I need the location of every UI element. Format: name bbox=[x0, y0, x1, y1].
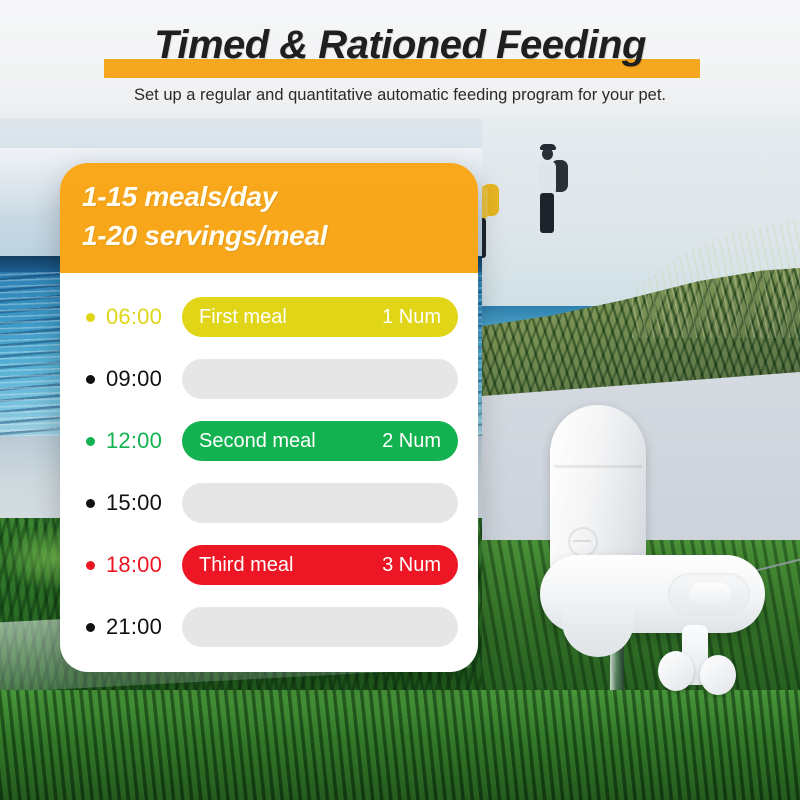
page-subtitle: Set up a regular and quantitative automa… bbox=[0, 86, 800, 105]
header: Timed & Rationed Feeding Set up a regula… bbox=[0, 0, 800, 118]
card-header: 1-15 meals/day 1-20 servings/meal bbox=[60, 163, 478, 273]
feeder-outlet bbox=[562, 601, 634, 657]
meal-label: Second meal bbox=[199, 430, 316, 453]
feeder-clamp bbox=[658, 625, 734, 697]
hiker-legs bbox=[482, 218, 486, 258]
feeding-schedule-card: 1-15 meals/day 1-20 servings/meal 06:00F… bbox=[60, 163, 478, 672]
meal-pill[interactable]: Second meal2 Num bbox=[182, 421, 458, 461]
time-bullet-icon bbox=[86, 375, 95, 384]
schedule-time: 18:00 bbox=[106, 552, 182, 578]
meals-per-day-label: 1-15 meals/day bbox=[82, 177, 478, 216]
hiker-torso bbox=[538, 161, 556, 195]
hiker-torso bbox=[482, 186, 488, 220]
clamp-knob bbox=[658, 651, 694, 691]
automatic-fish-feeder bbox=[540, 405, 780, 695]
empty-slot-pill[interactable] bbox=[182, 359, 458, 399]
schedule-row[interactable]: 18:00Third meal3 Num bbox=[60, 543, 478, 587]
hiker-legs bbox=[540, 193, 554, 233]
product-infographic: Timed & Rationed Feeding Set up a regula… bbox=[0, 0, 800, 800]
schedule-row[interactable]: 06:00First meal1 Num bbox=[60, 295, 478, 339]
title-wrap: Timed & Rationed Feeding bbox=[0, 0, 800, 68]
empty-slot-pill[interactable] bbox=[182, 607, 458, 647]
feeder-button bbox=[688, 581, 732, 605]
hiker-figure bbox=[534, 144, 574, 240]
meal-pill[interactable]: First meal1 Num bbox=[182, 297, 458, 337]
meal-label: First meal bbox=[199, 306, 287, 329]
schedule-time: 06:00 bbox=[106, 304, 182, 330]
meal-pill[interactable]: Third meal3 Num bbox=[182, 545, 458, 585]
schedule-row[interactable]: 09:00 bbox=[60, 357, 478, 401]
serving-count: 2 Num bbox=[382, 430, 441, 453]
foreground-plants bbox=[0, 690, 800, 800]
schedule-row[interactable]: 12:00Second meal2 Num bbox=[60, 419, 478, 463]
empty-slot-pill[interactable] bbox=[182, 483, 458, 523]
serving-count: 1 Num bbox=[382, 306, 441, 329]
time-bullet-icon bbox=[86, 313, 95, 322]
schedule-time: 09:00 bbox=[106, 366, 182, 392]
meal-label: Third meal bbox=[199, 554, 293, 577]
time-bullet-icon bbox=[86, 499, 95, 508]
hiker-figure bbox=[482, 174, 508, 264]
schedule-time: 21:00 bbox=[106, 614, 182, 640]
time-bullet-icon bbox=[86, 623, 95, 632]
schedule-row[interactable]: 21:00 bbox=[60, 605, 478, 649]
hiker-head bbox=[542, 148, 553, 160]
page-title: Timed & Rationed Feeding bbox=[0, 22, 800, 68]
dune-hikers-photo bbox=[482, 118, 800, 400]
feeder-hopper bbox=[550, 405, 646, 575]
schedule-row[interactable]: 15:00 bbox=[60, 481, 478, 525]
servings-per-meal-label: 1-20 servings/meal bbox=[82, 216, 478, 255]
schedule-list: 06:00First meal1 Num09:0012:00Second mea… bbox=[60, 273, 478, 649]
rotate-lock-icon bbox=[568, 527, 598, 557]
clamp-knob bbox=[700, 655, 736, 695]
time-bullet-icon bbox=[86, 561, 95, 570]
serving-count: 3 Num bbox=[382, 554, 441, 577]
schedule-time: 12:00 bbox=[106, 428, 182, 454]
schedule-time: 15:00 bbox=[106, 490, 182, 516]
time-bullet-icon bbox=[86, 437, 95, 446]
